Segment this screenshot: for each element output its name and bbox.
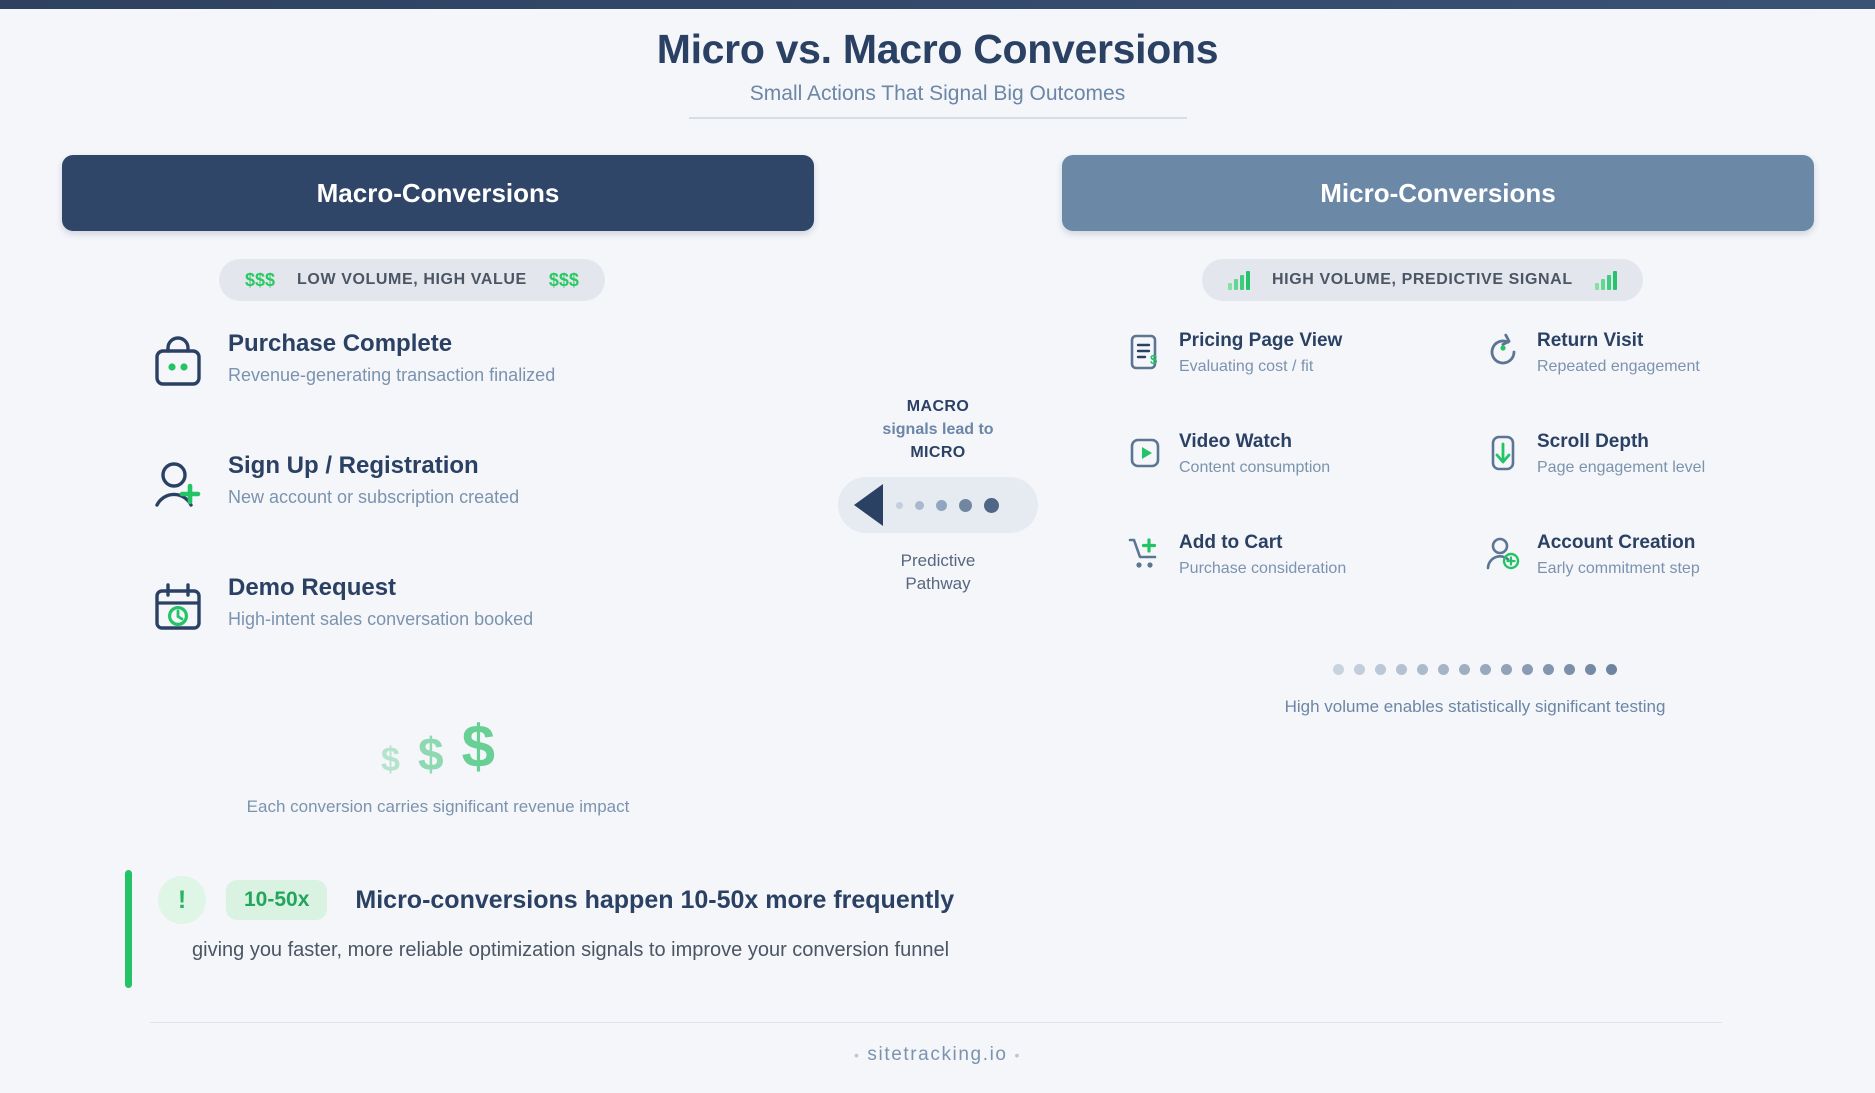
volume-dot — [1417, 664, 1428, 675]
volume-dot — [1543, 664, 1554, 675]
bar-chart-icon — [1595, 271, 1617, 290]
list-item-title: Account Creation — [1537, 532, 1700, 555]
callout-box: ! 10-50x Micro-conversions happen 10-50x… — [125, 870, 1245, 988]
macro-conversion-list: Purchase Complete Revenue-generating tra… — [150, 330, 790, 696]
calendar-clock-icon — [150, 578, 206, 634]
volume-dot — [1480, 664, 1491, 675]
list-item-title: Purchase Complete — [228, 330, 555, 358]
volume-dot — [1606, 664, 1617, 675]
pathway-caption-line-2: Pathway — [838, 573, 1038, 596]
return-arrow-icon — [1483, 332, 1523, 372]
dollar-icon-medium: $ — [418, 731, 444, 777]
callout-body: ! 10-50x Micro-conversions happen 10-50x… — [158, 870, 1245, 988]
dollar-icon-small: $ — [381, 743, 400, 777]
footer-divider — [150, 1022, 1722, 1023]
volume-dot — [1585, 664, 1596, 675]
micro-column-header: Micro-Conversions — [1062, 155, 1814, 231]
list-item-text: Return Visit Repeated engagement — [1537, 330, 1700, 376]
volume-dot — [1333, 664, 1344, 675]
status-badge: 10-50x — [226, 880, 327, 920]
list-item-title: Pricing Page View — [1179, 330, 1342, 353]
list-item: Account Creation Early commitment step — [1483, 532, 1823, 594]
list-item-text: Video Watch Content consumption — [1179, 431, 1330, 477]
list-item-text: Sign Up / Registration New account or su… — [228, 452, 519, 508]
dollar-signs-icon: $$$ — [549, 270, 579, 291]
footer-right-dot: • — [1014, 1047, 1021, 1063]
shopping-bag-icon — [150, 334, 206, 390]
predictive-pathway: MACRO signals lead to MICRO Predictive P… — [838, 398, 1038, 596]
list-item-subtitle: Early commitment step — [1537, 560, 1700, 578]
volume-dot — [1522, 664, 1533, 675]
list-item: Purchase Complete Revenue-generating tra… — [150, 330, 790, 408]
title-divider — [689, 117, 1187, 119]
macro-volume-badge: $$$ LOW VOLUME, HIGH VALUE $$$ — [219, 259, 605, 301]
list-item-subtitle: Purchase consideration — [1179, 560, 1346, 578]
list-item-title: Demo Request — [228, 574, 533, 602]
infographic-page: Micro vs. Macro Conversions Small Action… — [0, 0, 1875, 1093]
callout-headline: Micro-conversions happen 10-50x more fre… — [355, 886, 954, 915]
bar-chart-icon — [1228, 271, 1250, 290]
list-item: Return Visit Repeated engagement — [1483, 330, 1823, 392]
callout-accent-bar — [125, 870, 132, 988]
dollar-icon-large: $ — [462, 717, 495, 777]
user-plus-icon — [150, 456, 206, 512]
list-item-title: Sign Up / Registration — [228, 452, 519, 480]
volume-dot — [1459, 664, 1470, 675]
list-item-subtitle: Repeated engagement — [1537, 358, 1700, 376]
list-item-text: Scroll Depth Page engagement level — [1537, 431, 1705, 477]
list-item: Video Watch Content consumption — [1125, 431, 1465, 493]
list-item-subtitle: High-intent sales conversation booked — [228, 609, 533, 630]
volume-dot — [1375, 664, 1386, 675]
pathway-caption: Predictive Pathway — [838, 550, 1038, 596]
volume-dot — [1501, 664, 1512, 675]
list-item-text: Pricing Page View Evaluating cost / fit — [1179, 330, 1342, 376]
down-arrow-icon — [1483, 433, 1523, 473]
list-item: Scroll Depth Page engagement level — [1483, 431, 1823, 493]
dollar-scale-row: $ $ $ — [62, 715, 814, 777]
micro-heading-label: Micro-Conversions — [1320, 178, 1556, 209]
page-subtitle: Small Actions That Signal Big Outcomes — [0, 82, 1875, 106]
pathway-line-3: MICRO — [838, 444, 1038, 462]
pathway-caption-line-1: Predictive — [838, 550, 1038, 573]
list-item-subtitle: Evaluating cost / fit — [1179, 358, 1342, 376]
play-button-icon — [1125, 433, 1165, 473]
micro-volume-dots — [1125, 664, 1825, 675]
revenue-scale: $ $ $ Each conversion carries significan… — [62, 715, 814, 817]
pathway-capsule — [838, 477, 1038, 533]
top-accent-bar — [0, 0, 1875, 9]
micro-volume-badge: HIGH VOLUME, PREDICTIVE SIGNAL — [1202, 259, 1643, 301]
list-item-text: Purchase Complete Revenue-generating tra… — [228, 330, 555, 386]
list-item-title: Add to Cart — [1179, 532, 1346, 555]
svg-text:$: $ — [1150, 352, 1158, 367]
callout-heading-row: ! 10-50x Micro-conversions happen 10-50x… — [158, 876, 1245, 924]
micro-volume-caption: High volume enables statistically signif… — [1125, 697, 1825, 717]
page-title: Micro vs. Macro Conversions — [0, 26, 1875, 73]
list-item-title: Return Visit — [1537, 330, 1700, 353]
macro-heading-label: Macro-Conversions — [317, 178, 560, 209]
pathway-line-1: MACRO — [838, 398, 1038, 416]
revenue-scale-caption: Each conversion carries significant reve… — [62, 797, 814, 817]
list-item: Demo Request High-intent sales conversat… — [150, 574, 790, 652]
list-item-title: Video Watch — [1179, 431, 1330, 454]
list-item-title: Scroll Depth — [1537, 431, 1705, 454]
page-header: Micro vs. Macro Conversions Small Action… — [0, 26, 1875, 119]
list-item: $ Pricing Page View Evaluating cost / fi… — [1125, 330, 1465, 392]
dollar-signs-icon: $$$ — [245, 270, 275, 291]
list-item-subtitle: Content consumption — [1179, 459, 1330, 477]
micro-conversion-grid: $ Pricing Page View Evaluating cost / fi… — [1125, 330, 1825, 594]
volume-dot — [1354, 664, 1365, 675]
list-item-subtitle: Page engagement level — [1537, 459, 1705, 477]
list-item-subtitle: Revenue-generating transaction finalized — [228, 365, 555, 386]
footer: • sitetracking.io • — [0, 1044, 1875, 1066]
macro-column-header: Macro-Conversions — [62, 155, 814, 231]
document-dollar-icon: $ — [1125, 332, 1165, 372]
volume-dot — [1438, 664, 1449, 675]
list-item-text: Demo Request High-intent sales conversat… — [228, 574, 533, 630]
left-triangle-icon — [854, 484, 883, 526]
callout-subtext: giving you faster, more reliable optimiz… — [192, 939, 1245, 962]
macro-volume-label: LOW VOLUME, HIGH VALUE — [297, 271, 527, 289]
volume-dot — [1564, 664, 1575, 675]
list-item-text: Add to Cart Purchase consideration — [1179, 532, 1346, 578]
list-item-subtitle: New account or subscription created — [228, 487, 519, 508]
micro-volume-label: HIGH VOLUME, PREDICTIVE SIGNAL — [1272, 271, 1573, 289]
list-item-text: Account Creation Early commitment step — [1537, 532, 1700, 578]
shopping-cart-plus-icon — [1125, 534, 1165, 574]
footer-left-dot: • — [854, 1047, 861, 1063]
pathway-dots — [896, 498, 999, 513]
exclamation-icon: ! — [158, 876, 206, 924]
user-circle-plus-icon — [1483, 534, 1523, 574]
footer-brand: sitetracking.io — [867, 1044, 1007, 1065]
list-item: Add to Cart Purchase consideration — [1125, 532, 1465, 594]
volume-dot — [1396, 664, 1407, 675]
list-item: Sign Up / Registration New account or su… — [150, 452, 790, 530]
pathway-line-2: signals lead to — [838, 421, 1038, 439]
